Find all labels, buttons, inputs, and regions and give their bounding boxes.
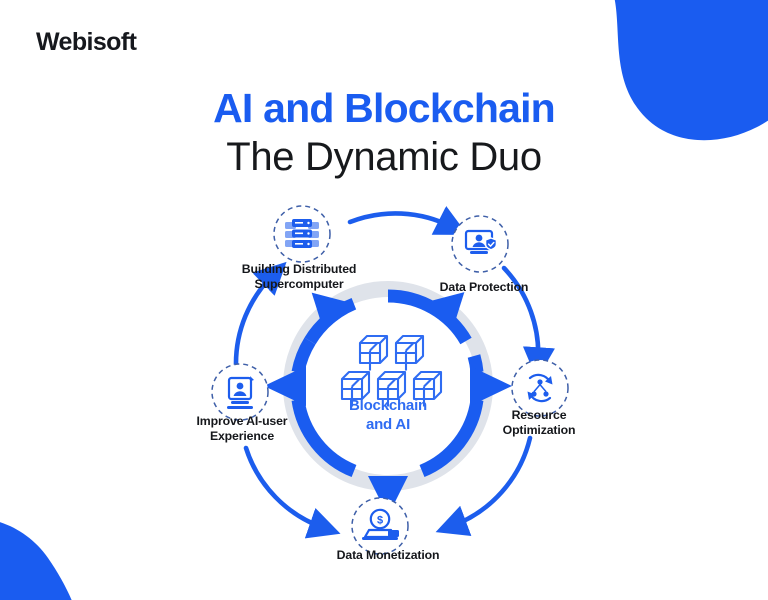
radial-cycle-diagram: $	[164, 186, 612, 586]
node-label-building-distributed-supercomputer: Building Distributed Supercomputer	[192, 262, 406, 292]
svg-text:$: $	[377, 514, 383, 526]
infographic-poster: Webisoft AI and Blockchain The Dynamic D…	[0, 0, 768, 600]
node-data-protection[interactable]	[452, 216, 508, 272]
node-data-monetization[interactable]: $	[352, 498, 408, 554]
center-caption: Blockchain and AI	[308, 396, 468, 434]
page-title-line-1: AI and Blockchain	[0, 84, 768, 132]
node-label-improve-ai-user-experience: Improve AI-user Experience	[160, 414, 324, 444]
node-building-distributed-supercomputer[interactable]	[274, 206, 330, 262]
page-title-line-2: The Dynamic Duo	[0, 132, 768, 182]
node-label-data-monetization: Data Monetization	[276, 548, 500, 563]
brand-logo-webisoft: Webisoft	[36, 28, 136, 57]
server-stack-icon	[285, 219, 319, 248]
node-improve-ai-user-experience[interactable]	[212, 364, 268, 420]
node-label-data-protection: Data Protection	[404, 280, 564, 295]
node-label-resource-optimization: Resource Optimization	[466, 408, 612, 438]
page-title: AI and Blockchain The Dynamic Duo	[0, 84, 768, 182]
